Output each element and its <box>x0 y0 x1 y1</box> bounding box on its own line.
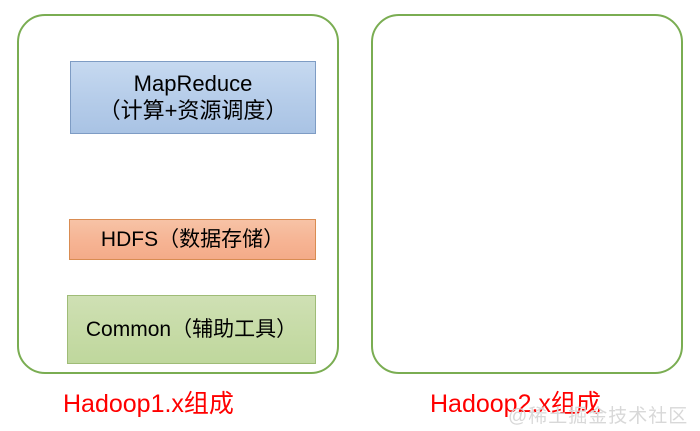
box-label-line-1: MapReduce <box>134 71 253 98</box>
box-hadoop1x-mapreduce: MapReduce （计算+资源调度） <box>70 61 316 134</box>
box-label-line-2: （计算+资源调度） <box>99 98 288 125</box>
box-label-line-1: HDFS（数据存储） <box>101 227 284 253</box>
panel-hadoop1x: MapReduce （计算+资源调度） HDFS（数据存储） Common（辅助… <box>17 14 339 374</box>
box-hadoop1x-common: Common（辅助工具） <box>67 295 316 364</box>
box-hadoop1x-hdfs: HDFS（数据存储） <box>69 219 316 260</box>
box-label-line-1: Common（辅助工具） <box>86 317 297 343</box>
hadoop-architecture-diagram: MapReduce （计算+资源调度） HDFS（数据存储） Common（辅助… <box>0 0 700 431</box>
caption-hadoop2x: Hadoop2.x组成 <box>430 384 601 420</box>
caption-hadoop1x: Hadoop1.x组成 <box>63 384 234 420</box>
panel-hadoop2x: MapReduce（计算） Yarn（资源调度） HDFS（数据存储） Comm… <box>371 14 683 374</box>
